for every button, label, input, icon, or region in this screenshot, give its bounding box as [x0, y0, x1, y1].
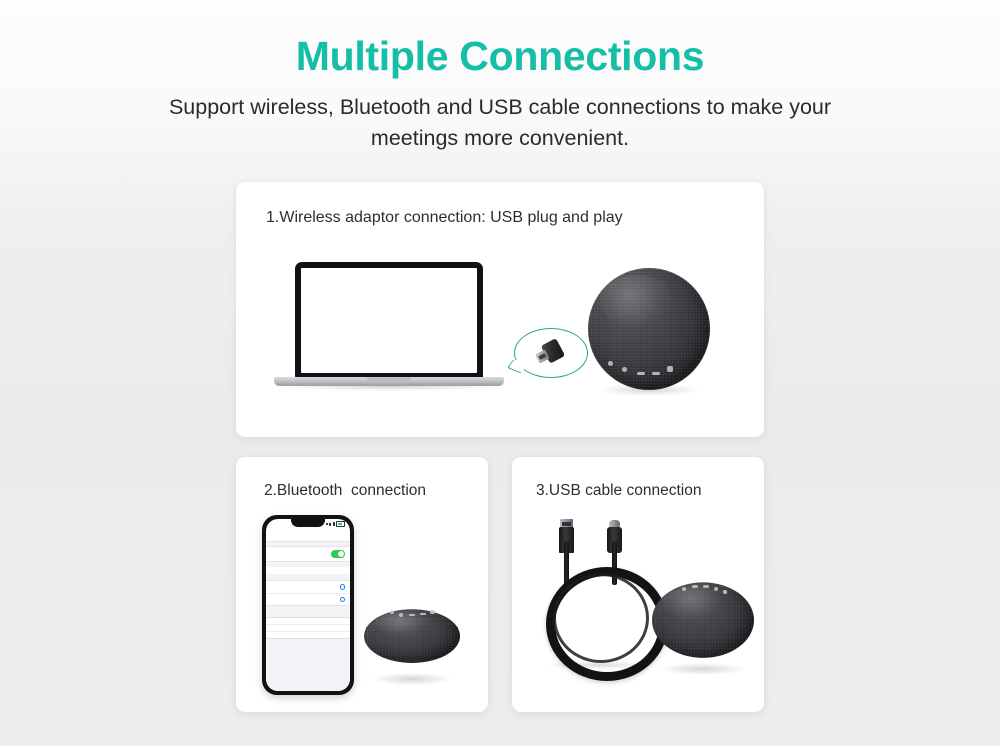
speaker-key-volume-down — [409, 614, 415, 617]
usb-dongle-callout-bubble — [514, 328, 588, 378]
cable-coil-inner — [553, 573, 649, 663]
speaker-key-bluetooth — [714, 587, 718, 591]
speaker-control-buttons — [588, 352, 710, 376]
my-devices-group — [266, 580, 350, 606]
speaker-key-power — [682, 587, 686, 591]
speaker-key-bluetooth — [399, 613, 403, 617]
battery-icon — [336, 521, 345, 527]
speaker-control-buttons — [364, 608, 460, 632]
speaker-key-bluetooth — [622, 367, 627, 372]
usb-illustration — [512, 457, 764, 712]
speaker-key-mute — [667, 366, 673, 372]
cable-shadow — [544, 661, 652, 669]
laptop-trackpad-notch — [367, 377, 411, 381]
laptop-lid — [295, 262, 483, 378]
laptop-shadow — [278, 386, 500, 391]
speaker-key-volume-up — [652, 372, 660, 375]
speaker-control-buttons — [652, 585, 754, 609]
speaker-key-power — [390, 610, 394, 614]
wireless-illustration — [236, 182, 764, 437]
status-indicators — [326, 521, 346, 527]
speaker-shadow — [598, 384, 700, 396]
page-subtitle: Support wireless, Bluetooth and USB cabl… — [140, 92, 860, 153]
product-feature-page: Multiple Connections Support wireless, B… — [0, 0, 1000, 746]
other-devices-group — [266, 617, 350, 639]
speaker-key-volume-up — [420, 613, 426, 616]
list-item[interactable] — [266, 618, 350, 625]
phone-notch — [291, 519, 325, 527]
device-status — [338, 584, 346, 590]
usb-dongle-icon — [531, 335, 566, 370]
speaker-key-volume-down — [692, 585, 698, 588]
smartphone-icon — [262, 515, 354, 695]
bluetooth-settings-list — [266, 542, 350, 691]
bluetooth-toggle[interactable] — [331, 550, 345, 558]
speaker-key-power — [608, 361, 613, 366]
list-item[interactable] — [266, 594, 350, 606]
list-item[interactable] — [266, 581, 350, 594]
list-item[interactable] — [266, 625, 350, 632]
speakerphone-icon — [588, 268, 710, 390]
bluetooth-illustration — [236, 457, 488, 712]
speaker-shadow — [372, 673, 453, 685]
phone-screen — [266, 519, 350, 691]
laptop-screen — [301, 268, 477, 373]
speakerphone-icon — [364, 583, 460, 679]
bluetooth-toggle-group — [266, 546, 350, 562]
speakerphone-icon — [652, 567, 754, 669]
page-title: Multiple Connections — [0, 0, 1000, 80]
speaker-key-volume-up — [703, 585, 709, 588]
laptop-base — [274, 377, 504, 386]
device-status — [338, 597, 346, 603]
speaker-key-mute — [723, 590, 727, 594]
info-icon — [340, 597, 346, 603]
card-wireless-connection: 1.Wireless adaptor connection: USB plug … — [236, 182, 764, 437]
speaker-key-mute — [430, 610, 435, 614]
callout-tail — [506, 360, 524, 376]
phone-nav-bar — [266, 529, 350, 542]
bluetooth-hint-text — [266, 567, 350, 574]
usb-cable-icon — [534, 515, 664, 665]
list-item[interactable] — [266, 632, 350, 638]
card-usb-connection: 3.USB cable connection — [512, 457, 764, 712]
laptop-icon — [274, 262, 504, 402]
speaker-key-volume-down — [637, 372, 645, 375]
bluetooth-toggle-row[interactable] — [266, 547, 350, 561]
card-bluetooth-connection: 2.Bluetooth connection — [236, 457, 488, 712]
speaker-shadow — [660, 663, 746, 675]
info-icon — [340, 584, 346, 590]
